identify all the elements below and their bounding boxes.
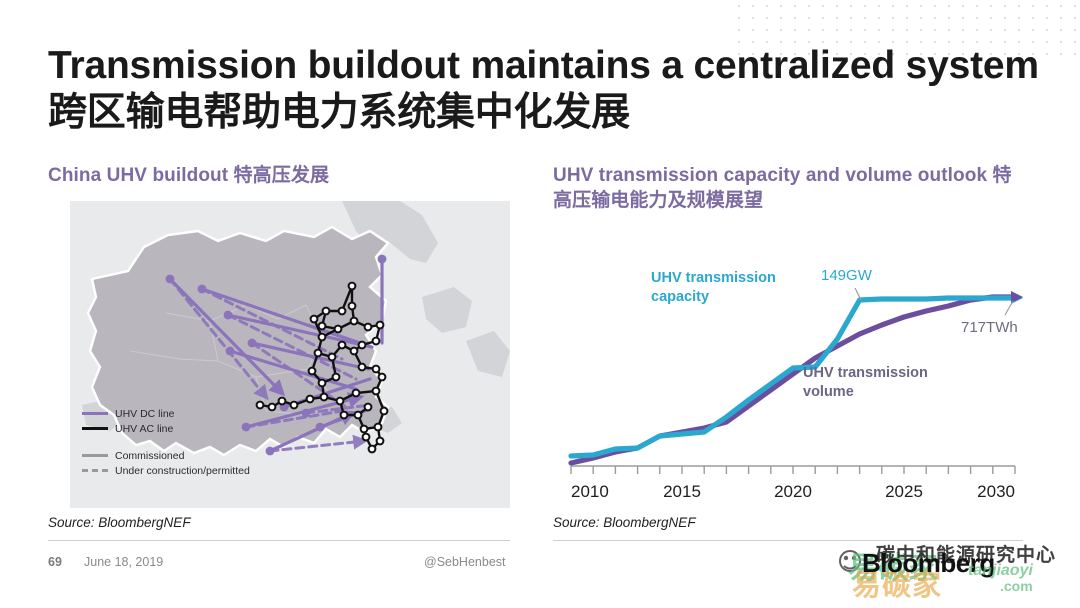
page-title-cn: 跨区输电帮助电力系统集中化发展 — [48, 91, 630, 134]
left-panel-subtitle-cn: 特高压发展 — [234, 165, 330, 186]
series-line-uhv-transmission-volume — [571, 297, 1015, 463]
watermark-site-main: 易碳家 — [848, 543, 938, 587]
page-title-en: Transmission buildout maintains a centra… — [48, 44, 1039, 87]
uhv-capacity-volume-chart: 2010 2015 2020 2025 2030 149GW 717TWh UH… — [553, 222, 1031, 512]
legend-item-uhv-dc-line: UHV DC line — [82, 406, 250, 421]
watermark-brand: Bloomberg — [862, 548, 995, 579]
right-panel-subtitle: UHV transmission capacity and volume out… — [553, 163, 1023, 213]
commissioned-swatch-icon — [82, 454, 108, 457]
volume-label-leader-line — [1005, 301, 1013, 315]
series-label-capacity-line2: capacity — [651, 289, 709, 305]
x-axis-ticks — [571, 466, 1015, 474]
watermark-site-name: tanjiaoyi — [968, 562, 1033, 580]
legend-label: UHV DC line — [115, 408, 175, 420]
series-label-volume-line1: UHV transmission — [803, 365, 928, 381]
page-number: 69 — [48, 555, 62, 569]
legend-spacer — [82, 436, 250, 448]
x-tick-2030: 2030 — [977, 482, 1015, 501]
china-uhv-map: UHV DC line UHV AC line Commissioned Und… — [70, 201, 510, 508]
x-tick-2015: 2015 — [663, 482, 701, 501]
x-tick-2010: 2010 — [571, 482, 609, 501]
left-panel-source: Source: BloombergNEF — [48, 515, 191, 530]
legend-label: Commissioned — [115, 450, 184, 462]
slide: Transmission buildout maintains a centra… — [0, 0, 1080, 608]
legend-item-under-construction: Under construction/permitted — [82, 463, 250, 478]
left-panel-subtitle: China UHV buildout 特高压发展 — [48, 163, 518, 188]
left-panel-divider — [48, 540, 510, 541]
page-title: Transmission buildout maintains a centra… — [48, 42, 1048, 136]
volume-end-value-label: 717TWh — [961, 319, 1018, 336]
capacity-end-value-label: 149GW — [821, 267, 873, 284]
x-tick-2025: 2025 — [885, 482, 923, 501]
slide-date: June 18, 2019 — [84, 555, 163, 569]
watermark-site-tld: .com — [1000, 578, 1033, 594]
watermark-chinese-text: 碳中和能源研究中心 — [876, 540, 1056, 567]
legend-item-uhv-ac-line: UHV AC line — [82, 421, 250, 436]
watermark-logo-icon — [838, 548, 872, 578]
right-panel-source: Source: BloombergNEF — [553, 515, 696, 530]
series-label-capacity-line1: UHV transmission — [651, 270, 776, 286]
watermark-site-overlay: 易碳家 — [852, 562, 942, 604]
legend-label: UHV AC line — [115, 423, 173, 435]
right-panel-divider — [553, 540, 1023, 541]
uhv-dc-line-swatch-icon — [82, 412, 108, 415]
right-panel-subtitle-en: UHV transmission capacity and volume out… — [553, 165, 993, 186]
legend-label: Under construction/permitted — [115, 465, 250, 477]
x-tick-2020: 2020 — [774, 482, 812, 501]
under-construction-swatch-icon — [82, 469, 108, 472]
uhv-ac-line-swatch-icon — [82, 427, 108, 430]
left-panel-subtitle-en: China UHV buildout — [48, 165, 234, 186]
series-label-volume-line2: volume — [803, 384, 854, 400]
legend-item-commissioned: Commissioned — [82, 448, 250, 463]
author-handle: @SebHenbest — [424, 555, 506, 569]
map-legend: UHV DC line UHV AC line Commissioned Und… — [82, 406, 250, 478]
chart-svg: 2010 2015 2020 2025 2030 149GW 717TWh UH… — [553, 222, 1031, 512]
